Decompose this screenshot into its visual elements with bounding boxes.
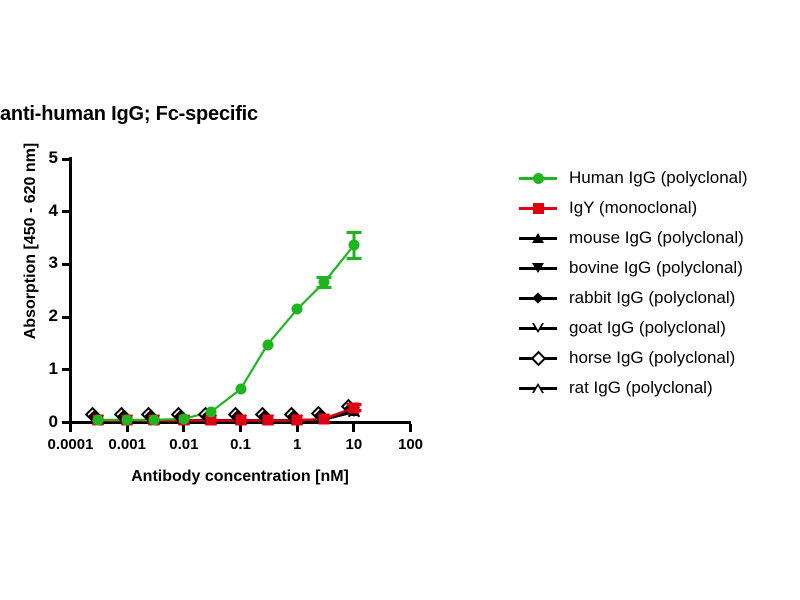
legend-item-3[interactable]: bovine IgG (polyclonal)	[517, 253, 800, 283]
legend-item-1[interactable]: IgY (monoclonal)	[517, 193, 800, 223]
data-point	[292, 304, 303, 315]
data-point	[292, 415, 303, 426]
data-point	[319, 277, 330, 288]
chart-legend: Human IgG (polyclonal)IgY (monoclonal)mo…	[517, 163, 800, 403]
legend-label: Human IgG (polyclonal)	[559, 168, 748, 188]
data-point	[262, 415, 273, 426]
legend-item-7[interactable]: rat IgG (polyclonal)	[517, 373, 800, 403]
legend-label: mouse IgG (polyclonal)	[559, 228, 744, 248]
legend-label: bovine IgG (polyclonal)	[559, 258, 743, 278]
legend-marker-triangle-up-filled-icon	[517, 228, 559, 248]
data-point	[235, 384, 246, 395]
data-point	[205, 406, 216, 417]
legend-label: horse IgG (polyclonal)	[559, 348, 735, 368]
legend-marker-triangle-down-open-icon	[517, 318, 559, 338]
legend-item-6[interactable]: horse IgG (polyclonal)	[517, 343, 800, 373]
data-point	[149, 414, 160, 425]
data-point	[235, 415, 246, 426]
error-bar-cap	[346, 231, 361, 234]
series-line	[98, 245, 354, 420]
data-point	[122, 414, 133, 425]
legend-marker-triangle-up-open-icon	[517, 378, 559, 398]
legend-marker-diamond-open-icon	[517, 348, 559, 368]
legend-label: IgY (monoclonal)	[559, 198, 697, 218]
data-point	[178, 413, 189, 424]
data-point	[319, 413, 330, 424]
legend-label: rabbit IgG (polyclonal)	[559, 288, 735, 308]
legend-marker-circle-filled-icon	[517, 168, 559, 188]
legend-item-5[interactable]: goat IgG (polyclonal)	[517, 313, 800, 343]
data-point	[262, 339, 273, 350]
legend-item-0[interactable]: Human IgG (polyclonal)	[517, 163, 800, 193]
y-axis-title: Absorption [450 - 620 nm]	[22, 126, 40, 356]
legend-item-2[interactable]: mouse IgG (polyclonal)	[517, 223, 800, 253]
legend-marker-triangle-down-filled-icon	[517, 258, 559, 278]
error-bar-cap	[346, 257, 361, 260]
x-axis-title: Antibody concentration [nM]	[70, 468, 410, 486]
legend-label: rat IgG (polyclonal)	[559, 378, 713, 398]
data-point	[92, 414, 103, 425]
legend-marker-square-filled-icon	[517, 198, 559, 218]
legend-item-4[interactable]: rabbit IgG (polyclonal)	[517, 283, 800, 313]
data-point	[348, 402, 359, 413]
legend-marker-diamond-filled-icon	[517, 288, 559, 308]
data-point	[348, 240, 359, 251]
legend-label: goat IgG (polyclonal)	[559, 318, 726, 338]
chart-figure: anti-human IgG; Fc-specific 0123450.0001…	[0, 0, 800, 600]
